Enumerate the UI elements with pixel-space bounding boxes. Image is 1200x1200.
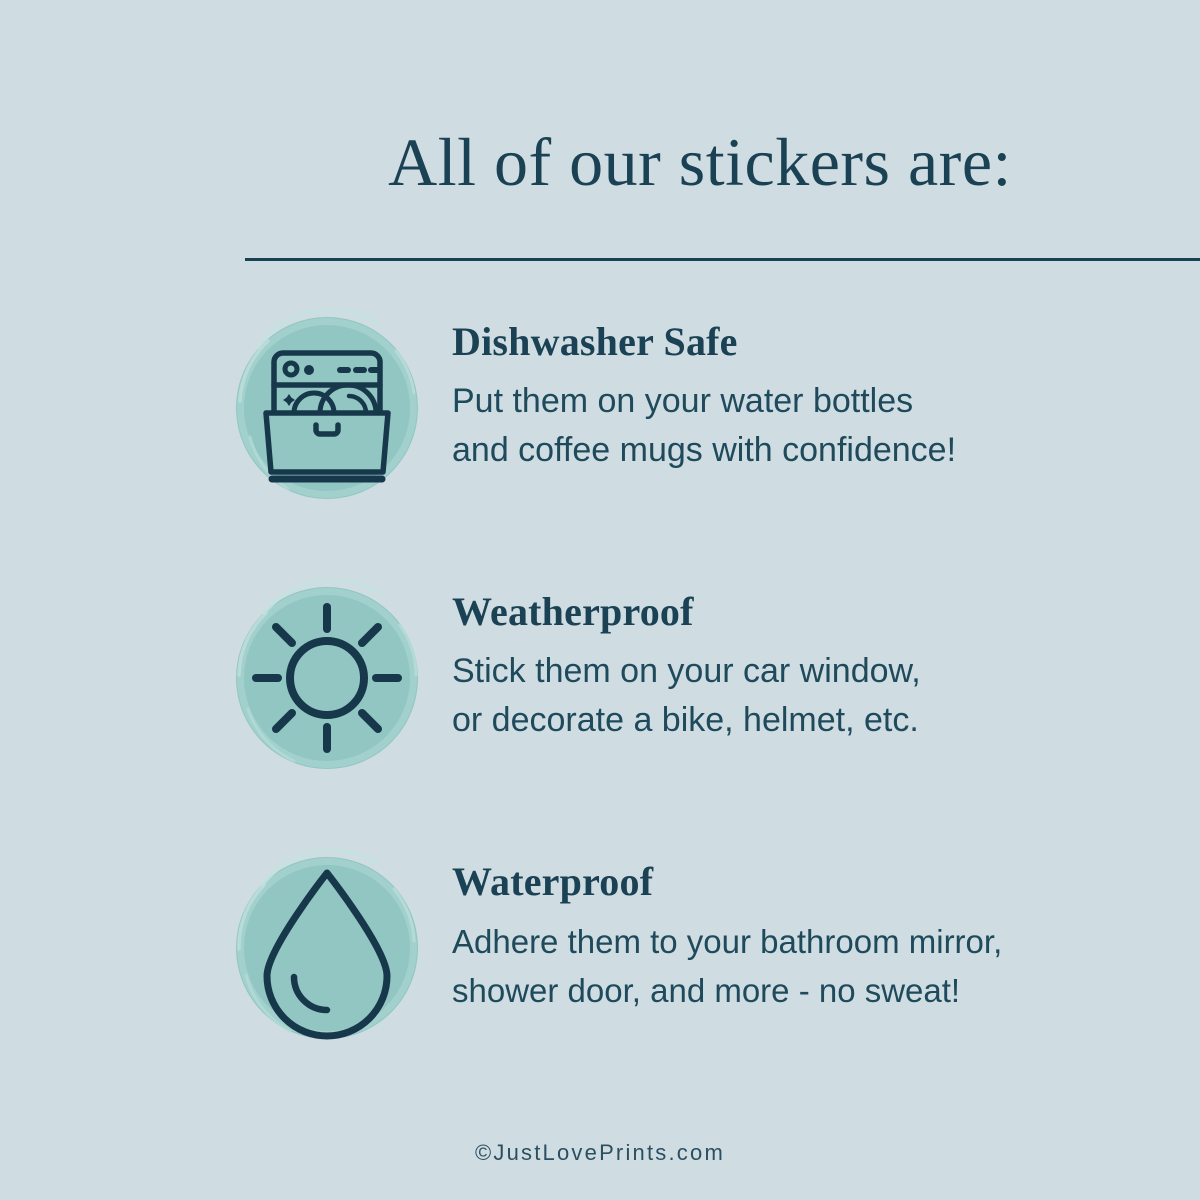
feature-description-line: or decorate a bike, helmet, etc. (452, 696, 1152, 745)
title-divider (245, 258, 1200, 261)
water-droplet-icon (228, 849, 426, 1047)
feature-description: Put them on your water bottles and coffe… (452, 377, 1152, 475)
feature-text-waterproof: Waterproof Adhere them to your bathroom … (452, 859, 1152, 1015)
feature-row-dishwasher: Dishwasher Safe Put them on your water b… (0, 305, 1200, 515)
feature-description-line: and coffee mugs with confidence! (452, 426, 1152, 475)
feature-description-line: Stick them on your car window, (452, 647, 1152, 696)
poster-canvas: All of our stickers are: (0, 0, 1200, 1200)
feature-description: Adhere them to your bathroom mirror, sho… (452, 917, 1152, 1015)
copyright-footer: ©JustLovePrints.com (0, 1140, 1200, 1166)
dishwasher-icon (228, 309, 426, 507)
feature-row-weatherproof: Weatherproof Stick them on your car wind… (0, 575, 1200, 785)
feature-description-line: Put them on your water bottles (452, 377, 1152, 426)
page-title: All of our stickers are: (245, 122, 1155, 202)
feature-heading: Weatherproof (452, 589, 1152, 635)
sun-icon (228, 579, 426, 777)
feature-text-weatherproof: Weatherproof Stick them on your car wind… (452, 589, 1152, 745)
feature-description-line: Adhere them to your bathroom mirror, (452, 917, 1152, 966)
feature-row-waterproof: Waterproof Adhere them to your bathroom … (0, 845, 1200, 1055)
feature-heading: Dishwasher Safe (452, 319, 1152, 365)
feature-heading: Waterproof (452, 859, 1152, 905)
feature-description-line: shower door, and more - no sweat! (452, 966, 1152, 1015)
feature-text-dishwasher: Dishwasher Safe Put them on your water b… (452, 319, 1152, 475)
feature-description: Stick them on your car window, or decora… (452, 647, 1152, 745)
